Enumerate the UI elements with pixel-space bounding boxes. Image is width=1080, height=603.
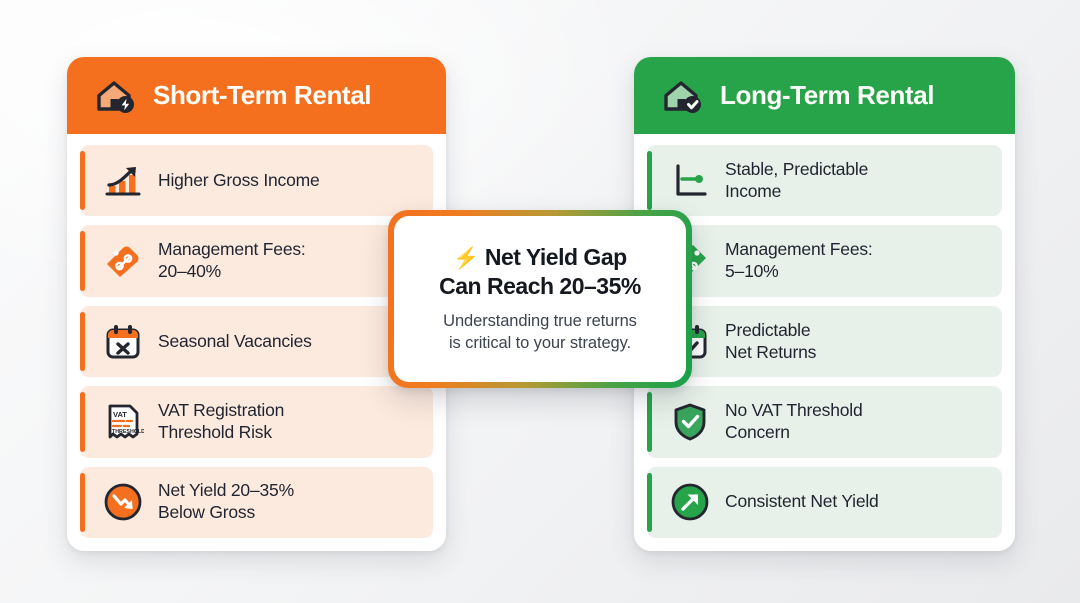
svg-text:VAT: VAT bbox=[113, 410, 127, 419]
list-item-label: Higher Gross Income bbox=[158, 170, 320, 192]
shield-check-icon bbox=[669, 401, 711, 443]
list-item[interactable]: Net Yield 20–35%Below Gross bbox=[80, 467, 433, 538]
list-item-label: Consistent Net Yield bbox=[725, 491, 879, 513]
short-term-card-title: Short-Term Rental bbox=[153, 80, 371, 111]
house-bolt-icon bbox=[93, 74, 137, 118]
callout-headline-line2: Can Reach 20–35% bbox=[439, 273, 641, 299]
accent-bar bbox=[647, 392, 652, 451]
arrow-down-circle-icon bbox=[102, 481, 144, 523]
long-term-card-header: Long-Term Rental bbox=[634, 57, 1015, 134]
list-item[interactable]: VAT THRESHOLD VAT RegistrationThreshold … bbox=[80, 386, 433, 457]
vat-receipt-icon: VAT THRESHOLD bbox=[102, 401, 144, 443]
callout-subtext-line2: is critical to your strategy. bbox=[449, 334, 631, 352]
list-item[interactable]: Management Fees:5–10% bbox=[647, 225, 1002, 296]
list-item[interactable]: Higher Gross Income bbox=[80, 145, 433, 216]
list-item-label: Stable, PredictableIncome bbox=[725, 159, 868, 203]
arrow-up-circle-icon bbox=[669, 481, 711, 523]
list-item[interactable]: Consistent Net Yield bbox=[647, 467, 1002, 538]
callout-headline: ⚡ Net Yield Gap Can Reach 20–35% bbox=[439, 243, 641, 300]
list-item[interactable]: Seasonal Vacancies bbox=[80, 306, 433, 377]
infographic-canvas: Short-Term Rental Higher Gross Income bbox=[0, 0, 1080, 603]
short-term-card-header: Short-Term Rental bbox=[67, 57, 446, 134]
list-item-label: PredictableNet Returns bbox=[725, 320, 816, 364]
list-item-label: Management Fees:5–10% bbox=[725, 239, 873, 283]
accent-bar bbox=[80, 473, 85, 532]
net-yield-gap-callout: ⚡ Net Yield Gap Can Reach 20–35% Underst… bbox=[388, 210, 692, 388]
calendar-x-icon bbox=[102, 321, 144, 363]
list-item[interactable]: No VAT ThresholdConcern bbox=[647, 386, 1002, 457]
callout-headline-line1: Net Yield Gap bbox=[485, 244, 627, 270]
accent-bar bbox=[80, 231, 85, 290]
list-item[interactable]: Management Fees:20–40% bbox=[80, 225, 433, 296]
list-item-label: Management Fees:20–40% bbox=[158, 239, 306, 283]
list-item-label: Seasonal Vacancies bbox=[158, 331, 312, 353]
accent-bar bbox=[80, 312, 85, 371]
house-check-icon bbox=[660, 74, 704, 118]
percent-tag-icon bbox=[102, 240, 144, 282]
flat-line-chart-icon bbox=[669, 160, 711, 202]
callout-subtext-line1: Understanding true returns bbox=[443, 312, 637, 330]
bar-chart-up-icon bbox=[102, 160, 144, 202]
list-item[interactable]: Stable, PredictableIncome bbox=[647, 145, 1002, 216]
list-item-label: VAT RegistrationThreshold Risk bbox=[158, 400, 284, 444]
long-term-card-title: Long-Term Rental bbox=[720, 80, 934, 111]
list-item-label: No VAT ThresholdConcern bbox=[725, 400, 863, 444]
accent-bar bbox=[80, 151, 85, 210]
accent-bar bbox=[647, 473, 652, 532]
list-item[interactable]: PredictableNet Returns bbox=[647, 306, 1002, 377]
callout-subtext: Understanding true returns is critical t… bbox=[443, 311, 637, 355]
svg-text:THRESHOLD: THRESHOLD bbox=[112, 429, 144, 435]
accent-bar bbox=[80, 392, 85, 451]
lightning-bolt-icon: ⚡ bbox=[453, 247, 479, 270]
list-item-label: Net Yield 20–35%Below Gross bbox=[158, 480, 294, 524]
accent-bar bbox=[647, 151, 652, 210]
callout-inner: ⚡ Net Yield Gap Can Reach 20–35% Underst… bbox=[394, 216, 686, 382]
